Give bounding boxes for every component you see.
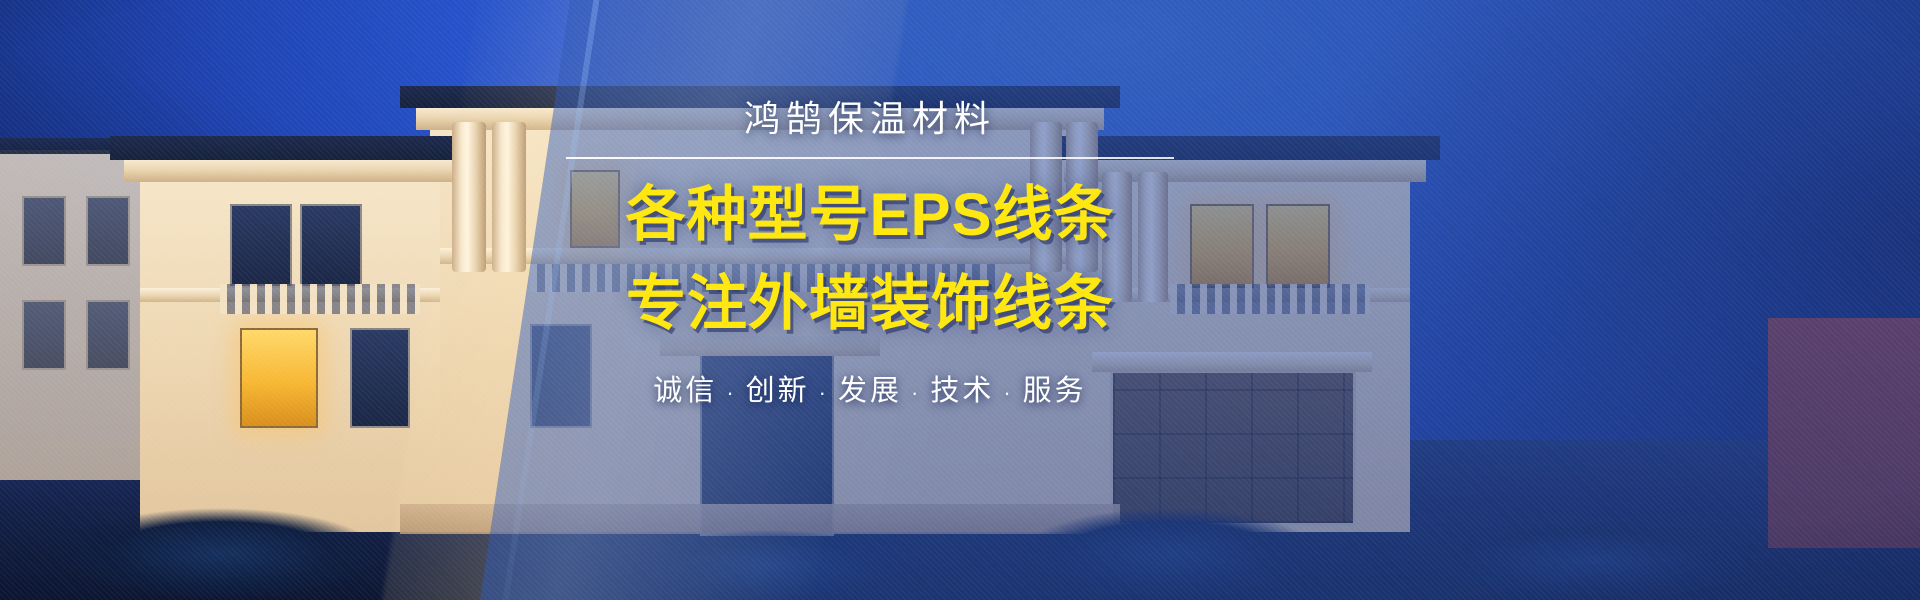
brand-name: 鸿鹄保温材料 <box>560 96 1180 141</box>
banner-copy: 鸿鹄保温材料 各种型号EPS线条 专注外墙装饰线条 诚信·创新·发展·技术·服务 <box>560 96 1180 409</box>
tagline-item: 服务 <box>1023 375 1087 407</box>
left-building-window <box>22 196 66 266</box>
villa-column <box>492 122 526 272</box>
tagline-item: 发展 <box>838 375 902 407</box>
villa-window <box>300 204 362 286</box>
divider-rule <box>566 157 1174 159</box>
headline-line-2: 专注外墙装饰线条 <box>560 270 1180 337</box>
villa-balustrade <box>220 284 420 314</box>
villa-column <box>452 122 486 272</box>
headline-line-1: 各种型号EPS线条 <box>560 181 1180 248</box>
tagline-item: 技术 <box>930 375 994 407</box>
left-building-window <box>22 300 66 370</box>
hedge <box>60 508 380 600</box>
villa-window <box>350 328 410 428</box>
tagline-item: 创新 <box>746 375 810 407</box>
tagline: 诚信·创新·发展·技术·服务 <box>560 367 1180 409</box>
hero-banner: 鸿鹄保温材料 各种型号EPS线条 专注外墙装饰线条 诚信·创新·发展·技术·服务 <box>0 0 1920 600</box>
villa-left-wing-roof <box>110 136 470 160</box>
tagline-separator: · <box>1003 380 1013 405</box>
tagline-separator: · <box>726 380 736 405</box>
villa-window-lit <box>240 328 318 428</box>
tagline-separator: · <box>819 380 829 405</box>
tagline-item: 诚信 <box>653 375 717 407</box>
villa-window <box>230 204 292 286</box>
tagline-separator: · <box>911 380 921 405</box>
